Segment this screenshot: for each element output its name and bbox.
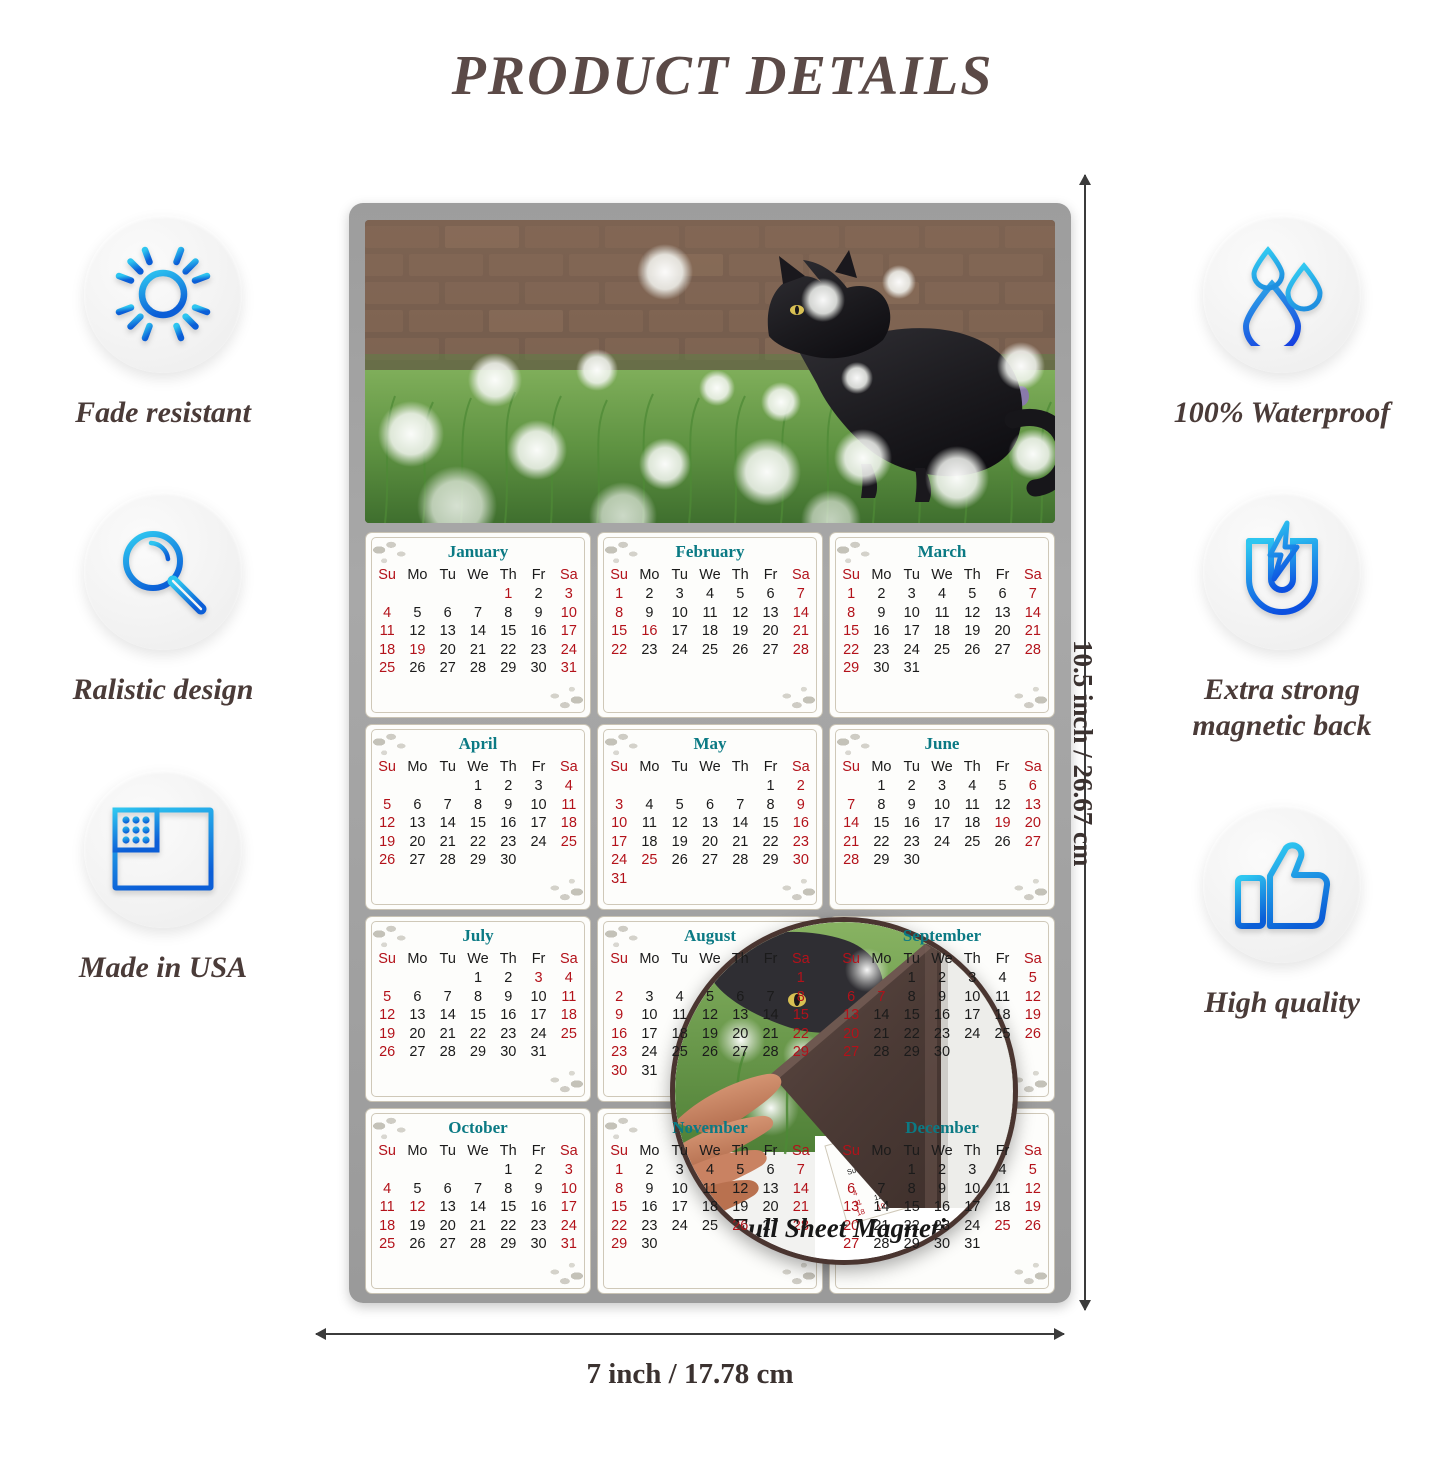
- day-cell: 24: [523, 833, 553, 852]
- day-cell: 11: [695, 1180, 725, 1199]
- month-title: July: [372, 926, 584, 946]
- day-cell: 9: [927, 1180, 957, 1199]
- day-cell: 20: [433, 641, 463, 660]
- day-cell: 3: [523, 969, 553, 988]
- day-cell: 11: [987, 1180, 1017, 1199]
- day-cell: 8: [493, 1180, 523, 1199]
- feature-waterproof: 100% Waterproof: [1127, 215, 1437, 430]
- day-cell: 28: [463, 659, 493, 678]
- day-cell: [463, 1161, 493, 1180]
- day-cell: 19: [725, 622, 755, 641]
- day-cell: [1018, 1235, 1048, 1254]
- weekday-header: We: [927, 759, 957, 777]
- day-cell: [433, 1161, 463, 1180]
- day-cell: 12: [1018, 988, 1048, 1007]
- day-cell: 26: [402, 659, 432, 678]
- weekday-header: Tu: [433, 1143, 463, 1161]
- water-drops-icon: [1203, 215, 1361, 373]
- day-cell: 30: [493, 851, 523, 870]
- day-cell: 29: [866, 851, 896, 870]
- day-cell: 15: [493, 622, 523, 641]
- day-cell: 7: [786, 1161, 816, 1180]
- day-cell: [665, 969, 695, 988]
- weekday-header: We: [463, 951, 493, 969]
- day-cell: 8: [463, 988, 493, 1007]
- day-cell: 2: [927, 1161, 957, 1180]
- day-cell: [463, 585, 493, 604]
- week-row: 45678910: [372, 604, 584, 623]
- day-cell: [957, 659, 987, 678]
- day-cell: 2: [634, 1161, 664, 1180]
- day-cell: 2: [523, 1161, 553, 1180]
- day-cell: 2: [634, 585, 664, 604]
- day-cell: 29: [755, 851, 785, 870]
- day-cell: 12: [957, 604, 987, 623]
- day-cell: [523, 851, 553, 870]
- feature-label: High quality: [1127, 985, 1437, 1020]
- day-cell: 17: [927, 814, 957, 833]
- day-cell: 4: [957, 777, 987, 796]
- day-cell: 24: [957, 1025, 987, 1044]
- day-cell: 26: [725, 641, 755, 660]
- day-cell: 19: [1018, 1006, 1048, 1025]
- day-cell: 29: [463, 1043, 493, 1062]
- weekday-header: We: [927, 1143, 957, 1161]
- day-cell: 20: [987, 622, 1017, 641]
- weekday-header: Fr: [523, 951, 553, 969]
- day-cell: 8: [755, 796, 785, 815]
- day-cell: 1: [897, 969, 927, 988]
- day-cell: [433, 777, 463, 796]
- day-cell: 16: [927, 1006, 957, 1025]
- day-cell: 26: [1018, 1025, 1048, 1044]
- weekday-header: Th: [957, 759, 987, 777]
- day-cell: 27: [433, 1235, 463, 1254]
- month-day-grid: SuMoTuWeThFrSa 1234567891011121314151617…: [836, 951, 1048, 1062]
- day-cell: 29: [493, 659, 523, 678]
- day-cell: 8: [604, 604, 634, 623]
- day-cell: 28: [463, 1235, 493, 1254]
- day-cell: 25: [695, 641, 725, 660]
- day-cell: 14: [433, 814, 463, 833]
- weekday-header: Th: [493, 951, 523, 969]
- weekday-header: Su: [604, 759, 634, 777]
- day-cell: 21: [755, 1025, 785, 1044]
- week-row: 45678910: [372, 1180, 584, 1199]
- day-cell: 4: [554, 777, 584, 796]
- day-cell: 1: [755, 777, 785, 796]
- weekday-header: Th: [725, 1143, 755, 1161]
- day-cell: 19: [987, 814, 1017, 833]
- day-cell: 11: [554, 988, 584, 1007]
- day-cell: 30: [523, 659, 553, 678]
- day-cell: 12: [987, 796, 1017, 815]
- day-cell: 16: [897, 814, 927, 833]
- day-cell: 30: [927, 1043, 957, 1062]
- weekday-header: Th: [957, 567, 987, 585]
- day-cell: [433, 585, 463, 604]
- day-cell: 15: [755, 814, 785, 833]
- day-cell: 23: [786, 833, 816, 852]
- day-cell: 7: [866, 988, 896, 1007]
- day-cell: 9: [493, 988, 523, 1007]
- day-cell: 25: [372, 659, 402, 678]
- weekday-header: Tu: [665, 951, 695, 969]
- week-row: 12: [604, 777, 816, 796]
- day-cell: 10: [554, 604, 584, 623]
- day-cell: 8: [604, 1180, 634, 1199]
- week-row: 891011121314: [604, 604, 816, 623]
- day-cell: 7: [836, 796, 866, 815]
- day-cell: 24: [665, 641, 695, 660]
- day-cell: 19: [402, 641, 432, 660]
- day-cell: [554, 851, 584, 870]
- day-cell: 22: [493, 1217, 523, 1236]
- week-row: 15161718192021: [836, 622, 1048, 641]
- day-cell: 10: [554, 1180, 584, 1199]
- day-cell: 14: [836, 814, 866, 833]
- month-title: April: [372, 734, 584, 754]
- day-cell: 26: [402, 1235, 432, 1254]
- day-cell: 20: [755, 622, 785, 641]
- week-row: 6789101112: [836, 988, 1048, 1007]
- weekday-header: Tu: [433, 759, 463, 777]
- day-cell: 18: [957, 814, 987, 833]
- month-title: March: [836, 542, 1048, 562]
- weekday-header: Mo: [634, 759, 664, 777]
- weekday-header: Mo: [866, 951, 896, 969]
- day-cell: 21: [866, 1025, 896, 1044]
- day-cell: 19: [695, 1025, 725, 1044]
- day-cell: [372, 777, 402, 796]
- day-cell: 1: [866, 777, 896, 796]
- day-cell: 2: [786, 777, 816, 796]
- day-cell: 11: [634, 814, 664, 833]
- week-row: 21222324252627: [836, 833, 1048, 852]
- week-row: 891011121314: [836, 604, 1048, 623]
- day-cell: 15: [866, 814, 896, 833]
- week-row: 22232425262728: [836, 641, 1048, 660]
- week-row: 1234567: [604, 1161, 816, 1180]
- day-cell: 28: [1018, 641, 1048, 660]
- week-row: 12345: [836, 1161, 1048, 1180]
- day-cell: 23: [866, 641, 896, 660]
- day-cell: 31: [523, 1043, 553, 1062]
- day-cell: 27: [755, 641, 785, 660]
- weekday-header: Tu: [897, 759, 927, 777]
- day-cell: [725, 1062, 755, 1081]
- day-cell: 18: [634, 833, 664, 852]
- day-cell: 13: [402, 1006, 432, 1025]
- feature-label: Extra strongmagnetic back: [1127, 672, 1437, 743]
- weekday-header: Su: [836, 759, 866, 777]
- day-cell: 22: [463, 1025, 493, 1044]
- day-cell: [372, 585, 402, 604]
- week-row: 14151617181920: [836, 814, 1048, 833]
- day-cell: 24: [604, 851, 634, 870]
- week-row: 1234: [372, 969, 584, 988]
- month-card: MaySuMoTuWeThFrSa 1234567891011121314151…: [597, 724, 823, 910]
- day-cell: 23: [634, 641, 664, 660]
- weekday-header: We: [463, 567, 493, 585]
- day-cell: 8: [897, 988, 927, 1007]
- day-cell: 9: [493, 796, 523, 815]
- calendar-photo: [365, 220, 1055, 523]
- day-cell: 19: [665, 833, 695, 852]
- weekday-header: Th: [957, 1143, 987, 1161]
- day-cell: [634, 969, 664, 988]
- feature-label: 100% Waterproof: [1127, 395, 1437, 430]
- day-cell: 17: [523, 814, 553, 833]
- day-cell: 30: [866, 659, 896, 678]
- weekday-header: Tu: [665, 759, 695, 777]
- week-row: 17181920212223: [604, 833, 816, 852]
- day-cell: 9: [866, 604, 896, 623]
- day-cell: 3: [665, 1161, 695, 1180]
- week-row: 18192021222324: [372, 1217, 584, 1236]
- month-card: JanuarySuMoTuWeThFrSa 123456789101112131…: [365, 532, 591, 718]
- weekday-header: Sa: [1018, 759, 1048, 777]
- day-cell: 11: [665, 1006, 695, 1025]
- day-cell: 2: [897, 777, 927, 796]
- day-cell: 14: [786, 604, 816, 623]
- day-cell: 20: [402, 1025, 432, 1044]
- day-cell: 29: [493, 1235, 523, 1254]
- day-cell: 17: [554, 622, 584, 641]
- weekday-header: Tu: [665, 1143, 695, 1161]
- day-cell: 13: [433, 1198, 463, 1217]
- day-cell: 18: [927, 622, 957, 641]
- day-cell: 12: [402, 1198, 432, 1217]
- day-cell: 1: [897, 1161, 927, 1180]
- day-cell: 31: [634, 1062, 664, 1081]
- weekday-header: Sa: [786, 951, 816, 969]
- week-row: 18192021222324: [372, 641, 584, 660]
- day-cell: 27: [1018, 833, 1048, 852]
- day-cell: 5: [695, 988, 725, 1007]
- feature-high-quality: High quality: [1127, 805, 1437, 1020]
- day-cell: 29: [897, 1043, 927, 1062]
- day-cell: 19: [402, 1217, 432, 1236]
- month-title: December: [836, 1118, 1048, 1138]
- day-cell: 2: [604, 988, 634, 1007]
- day-cell: 4: [554, 969, 584, 988]
- day-cell: 25: [634, 851, 664, 870]
- day-cell: [1018, 659, 1048, 678]
- month-card: DecemberSuMoTuWeThFrSa 12345678910111213…: [829, 1108, 1055, 1294]
- weekday-header: Fr: [755, 759, 785, 777]
- day-cell: 2: [523, 585, 553, 604]
- day-cell: 19: [372, 833, 402, 852]
- day-cell: [866, 969, 896, 988]
- weekday-header: We: [927, 567, 957, 585]
- weekday-header: Th: [957, 951, 987, 969]
- day-cell: 17: [523, 1006, 553, 1025]
- day-cell: [372, 1161, 402, 1180]
- day-cell: 4: [372, 1180, 402, 1199]
- day-cell: 22: [755, 833, 785, 852]
- day-cell: 15: [463, 1006, 493, 1025]
- thumbs-up-icon: [1203, 805, 1361, 963]
- day-cell: 4: [695, 585, 725, 604]
- weekday-header: Mo: [866, 759, 896, 777]
- week-row: 1: [604, 969, 816, 988]
- day-cell: 10: [523, 988, 553, 1007]
- month-day-grid: SuMoTuWeThFrSa 1234567891011121314151617…: [372, 951, 584, 1062]
- weekday-header: Fr: [523, 1143, 553, 1161]
- day-cell: [836, 1161, 866, 1180]
- day-cell: 7: [786, 585, 816, 604]
- day-cell: 10: [665, 1180, 695, 1199]
- weekday-header: Sa: [554, 1143, 584, 1161]
- day-cell: [786, 1062, 816, 1081]
- day-cell: 5: [725, 1161, 755, 1180]
- day-cell: 30: [786, 851, 816, 870]
- day-cell: [755, 969, 785, 988]
- day-cell: 2: [927, 969, 957, 988]
- weekday-header: We: [927, 951, 957, 969]
- feature-fade-resistant: Fade resistant: [8, 215, 318, 430]
- day-cell: 16: [634, 1198, 664, 1217]
- weekday-header: Mo: [402, 1143, 432, 1161]
- week-row: 2345678: [604, 988, 816, 1007]
- day-cell: 15: [786, 1006, 816, 1025]
- week-row: 11121314151617: [372, 1198, 584, 1217]
- day-cell: 3: [604, 796, 634, 815]
- day-cell: 5: [665, 796, 695, 815]
- day-cell: 12: [402, 622, 432, 641]
- week-row: 262728293031: [372, 1043, 584, 1062]
- day-cell: 7: [866, 1180, 896, 1199]
- weekday-header: Sa: [786, 759, 816, 777]
- weekday-header: Fr: [987, 759, 1017, 777]
- week-row: 293031: [836, 659, 1048, 678]
- weekday-header: Sa: [786, 1143, 816, 1161]
- magnet-icon: [1203, 492, 1361, 650]
- weekday-header: Mo: [866, 1143, 896, 1161]
- day-cell: 13: [402, 814, 432, 833]
- weekday-header: Tu: [433, 567, 463, 585]
- day-cell: 27: [987, 641, 1017, 660]
- week-row: 13141516171819: [836, 1006, 1048, 1025]
- day-cell: 16: [493, 1006, 523, 1025]
- day-cell: 11: [927, 604, 957, 623]
- weekday-header: Tu: [897, 1143, 927, 1161]
- month-title: February: [604, 542, 816, 562]
- day-cell: 13: [695, 814, 725, 833]
- day-cell: 9: [634, 604, 664, 623]
- day-cell: 9: [604, 1006, 634, 1025]
- weekday-header: We: [695, 951, 725, 969]
- weekday-header: Mo: [402, 951, 432, 969]
- day-cell: 21: [725, 833, 755, 852]
- month-title: October: [372, 1118, 584, 1138]
- weekday-header: We: [695, 1143, 725, 1161]
- magnet-caption: Full Sheet Magnetic: [675, 1213, 1013, 1244]
- day-cell: 22: [866, 833, 896, 852]
- week-row: 10111213141516: [604, 814, 816, 833]
- week-row: 16171819202122: [604, 1025, 816, 1044]
- day-cell: 15: [463, 814, 493, 833]
- day-cell: 28: [786, 641, 816, 660]
- weekday-header: We: [695, 759, 725, 777]
- day-cell: 20: [433, 1217, 463, 1236]
- week-row: 15161718192021: [604, 622, 816, 641]
- weekday-header: Tu: [665, 567, 695, 585]
- day-cell: 13: [725, 1006, 755, 1025]
- month-day-grid: SuMoTuWeThFrSa12345678910111213141516171…: [836, 567, 1048, 678]
- month-card: AprilSuMoTuWeThFrSa 12345678910111213141…: [365, 724, 591, 910]
- day-cell: 4: [987, 969, 1017, 988]
- day-cell: 15: [493, 1198, 523, 1217]
- day-cell: [402, 777, 432, 796]
- week-row: 567891011: [372, 796, 584, 815]
- day-cell: [604, 969, 634, 988]
- day-cell: [402, 585, 432, 604]
- month-day-grid: SuMoTuWeThFrSa 1234567891011121314151617…: [372, 567, 584, 678]
- day-cell: 10: [523, 796, 553, 815]
- day-cell: 21: [463, 1217, 493, 1236]
- week-row: 1234567: [604, 585, 816, 604]
- weekday-header: Tu: [897, 951, 927, 969]
- day-cell: 4: [665, 988, 695, 1007]
- month-card: NovemberSuMoTuWeThFrSa123456789101112131…: [597, 1108, 823, 1294]
- day-cell: 6: [755, 1161, 785, 1180]
- weekday-header: Th: [493, 1143, 523, 1161]
- day-cell: 3: [897, 585, 927, 604]
- day-cell: 5: [725, 585, 755, 604]
- day-cell: [695, 1062, 725, 1081]
- weekday-header: Su: [604, 951, 634, 969]
- day-cell: 15: [604, 1198, 634, 1217]
- day-cell: 6: [836, 988, 866, 1007]
- day-cell: 20: [695, 833, 725, 852]
- day-cell: 30: [523, 1235, 553, 1254]
- day-cell: 20: [725, 1025, 755, 1044]
- day-cell: 3: [927, 777, 957, 796]
- weekday-header: Fr: [755, 567, 785, 585]
- day-cell: 9: [523, 1180, 553, 1199]
- day-cell: [957, 851, 987, 870]
- day-cell: 23: [523, 1217, 553, 1236]
- magnifier-icon: [84, 492, 242, 650]
- height-dimension-label: 10.5 inch / 26.67 cm: [1067, 640, 1098, 867]
- day-cell: 25: [554, 833, 584, 852]
- day-cell: 1: [493, 585, 523, 604]
- day-cell: 2: [493, 777, 523, 796]
- day-cell: 31: [554, 659, 584, 678]
- weekday-header: Sa: [554, 567, 584, 585]
- day-cell: 19: [957, 622, 987, 641]
- day-cell: [987, 1043, 1017, 1062]
- day-cell: 16: [634, 622, 664, 641]
- day-cell: 17: [554, 1198, 584, 1217]
- day-cell: 26: [987, 833, 1017, 852]
- month-title: January: [372, 542, 584, 562]
- day-cell: 10: [927, 796, 957, 815]
- day-cell: 31: [554, 1235, 584, 1254]
- week-row: 123456: [836, 777, 1048, 796]
- day-cell: 14: [433, 1006, 463, 1025]
- day-cell: 24: [523, 1025, 553, 1044]
- day-cell: 4: [372, 604, 402, 623]
- day-cell: 30: [493, 1043, 523, 1062]
- day-cell: 18: [695, 622, 725, 641]
- day-cell: 23: [927, 1025, 957, 1044]
- month-card: JulySuMoTuWeThFrSa 123456789101112131415…: [365, 916, 591, 1102]
- day-cell: 6: [1018, 777, 1048, 796]
- weekday-header: Sa: [1018, 951, 1048, 969]
